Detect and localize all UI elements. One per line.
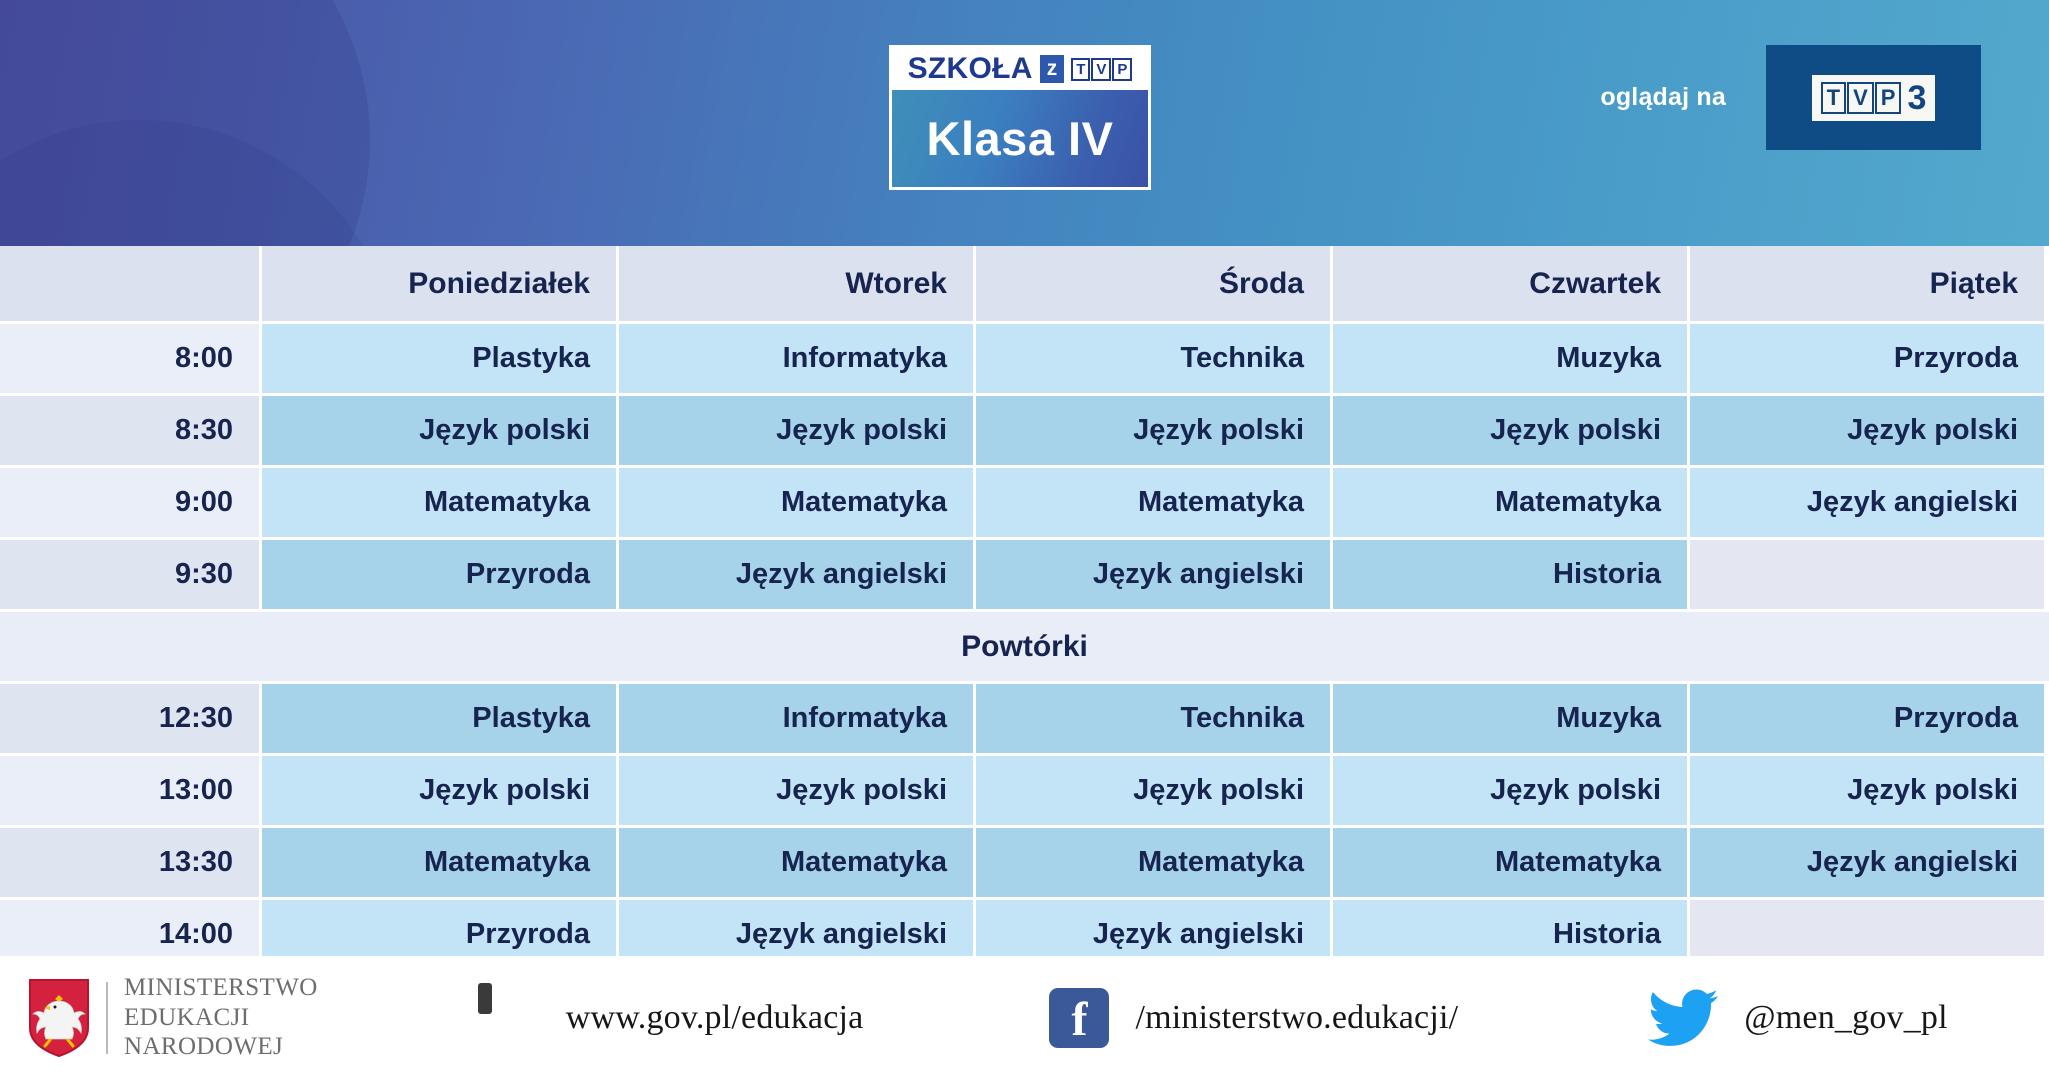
table-row: 13:00 Język polski Język polski Język po… — [0, 756, 2049, 828]
twitter-icon — [1648, 989, 1718, 1047]
table-row: 9:00 Matematyka Matematyka Matematyka Ma… — [0, 468, 2049, 540]
watch-on-block: oglądaj na T V P 3 — [1600, 45, 1981, 150]
lesson-cell: Informatyka — [619, 324, 976, 396]
lesson-cell: Język polski — [1333, 756, 1690, 828]
tvp3-letter-v: V — [1847, 82, 1874, 114]
lesson-cell: Matematyka — [976, 468, 1333, 540]
facebook-link[interactable]: f /ministerstwo.edukacji/ — [1049, 988, 1458, 1048]
tvp3-letters-icon: T V P — [1821, 82, 1902, 114]
lesson-cell: Historia — [1333, 540, 1690, 612]
facebook-icon: f — [1049, 988, 1109, 1048]
lesson-cell: Technika — [976, 684, 1333, 756]
lesson-cell: Język polski — [1690, 396, 2047, 468]
logo-tvp-letter-p: P — [1112, 58, 1132, 81]
lesson-cell: Język polski — [262, 396, 619, 468]
row-time: 8:30 — [0, 396, 262, 468]
twitter-handle: @men_gov_pl — [1744, 999, 1948, 1037]
table-row: 13:30 Matematyka Matematyka Matematyka M… — [0, 828, 2049, 900]
tvp3-channel-number: 3 — [1907, 81, 1926, 115]
polish-coat-of-arms-icon — [28, 978, 90, 1058]
facebook-handle: /ministerstwo.edukacji/ — [1135, 999, 1458, 1037]
lesson-cell-empty — [1690, 540, 2047, 612]
lesson-cell: Język polski — [976, 756, 1333, 828]
watch-on-label: oglądaj na — [1600, 83, 1726, 112]
ministry-line-2: EDUKACJI — [124, 1003, 318, 1033]
lesson-cell: Matematyka — [619, 468, 976, 540]
decorative-blob-icon — [0, 0, 370, 246]
lesson-cell: Język polski — [262, 756, 619, 828]
tvp3-plate: T V P 3 — [1812, 75, 1936, 121]
tvp3-letter-p: P — [1875, 82, 1902, 114]
logo-z-badge: z — [1040, 55, 1065, 83]
row-time: 9:30 — [0, 540, 262, 612]
lesson-cell: Język polski — [1333, 396, 1690, 468]
lesson-cell: Matematyka — [1333, 468, 1690, 540]
lesson-cell: Matematyka — [619, 828, 976, 900]
tvp3-channel-logo: T V P 3 — [1766, 45, 1981, 150]
lesson-cell: Język angielski — [976, 540, 1333, 612]
lesson-cell: Plastyka — [262, 324, 619, 396]
repeats-separator-row: Powtórki — [0, 612, 2049, 684]
logo-tvp-letter-v: V — [1091, 58, 1111, 81]
decorative-blob-secondary-icon — [0, 120, 400, 246]
monitor-icon — [478, 990, 540, 1046]
lesson-cell: Język polski — [619, 756, 976, 828]
lesson-cell: Technika — [976, 324, 1333, 396]
header-banner: SZKOŁA z T V P Klasa IV oglądaj na T V — [0, 0, 2049, 246]
lesson-cell: Język polski — [619, 396, 976, 468]
row-time: 8:00 — [0, 324, 262, 396]
lesson-cell: Matematyka — [976, 828, 1333, 900]
timetable-corner-cell — [0, 246, 262, 324]
ministry-line-3: NARODOWEJ — [124, 1032, 318, 1062]
row-time: 13:30 — [0, 828, 262, 900]
ministry-divider — [106, 982, 108, 1054]
szkola-z-tvp-logo: SZKOŁA z T V P Klasa IV — [889, 45, 1151, 190]
lesson-cell: Język angielski — [1690, 828, 2047, 900]
logo-szkola-word: SZKOŁA — [908, 54, 1033, 84]
lesson-cell: Matematyka — [262, 468, 619, 540]
logo-klasa-row: Klasa IV — [892, 90, 1148, 187]
day-header-piatek: Piątek — [1690, 246, 2047, 324]
ministry-logo: MINISTERSTWO EDUKACJI NARODOWEJ — [28, 973, 318, 1062]
lesson-cell: Informatyka — [619, 684, 976, 756]
table-row: 8:30 Język polski Język polski Język pol… — [0, 396, 2049, 468]
logo-tvp-mark-icon: T V P — [1071, 58, 1132, 81]
ministry-name: MINISTERSTWO EDUKACJI NARODOWEJ — [124, 973, 318, 1062]
day-header-czwartek: Czwartek — [1333, 246, 1690, 324]
website-url: www.gov.pl/edukacja — [566, 999, 864, 1037]
logo-top-row: SZKOŁA z T V P — [892, 48, 1148, 90]
lesson-cell: Język polski — [976, 396, 1333, 468]
day-header-wtorek: Wtorek — [619, 246, 976, 324]
table-row: 8:00 Plastyka Informatyka Technika Muzyk… — [0, 324, 2049, 396]
twitter-link[interactable]: @men_gov_pl — [1648, 989, 1948, 1047]
lesson-cell: Matematyka — [1333, 828, 1690, 900]
lesson-cell: Plastyka — [262, 684, 619, 756]
lesson-cell: Język angielski — [619, 540, 976, 612]
row-time: 13:00 — [0, 756, 262, 828]
lesson-cell: Matematyka — [262, 828, 619, 900]
day-header-sroda: Środa — [976, 246, 1333, 324]
lesson-cell: Przyroda — [1690, 684, 2047, 756]
table-row: 12:30 Plastyka Informatyka Technika Muzy… — [0, 684, 2049, 756]
tvp3-letter-t: T — [1821, 82, 1846, 114]
lesson-cell: Muzyka — [1333, 684, 1690, 756]
lesson-cell: Przyroda — [262, 540, 619, 612]
lesson-cell: Język angielski — [1690, 468, 2047, 540]
website-link[interactable]: www.gov.pl/edukacja — [478, 990, 864, 1046]
row-time: 12:30 — [0, 684, 262, 756]
ministry-line-1: MINISTERSTWO — [124, 973, 318, 1003]
day-header-poniedzialek: Poniedziałek — [262, 246, 619, 324]
row-time: 9:00 — [0, 468, 262, 540]
timetable-header-row: Poniedziałek Wtorek Środa Czwartek Piąte… — [0, 246, 2049, 324]
lesson-cell: Przyroda — [1690, 324, 2047, 396]
lesson-cell: Język polski — [1690, 756, 2047, 828]
logo-klasa-label: Klasa IV — [927, 115, 1114, 162]
timetable: Poniedziałek Wtorek Środa Czwartek Piąte… — [0, 246, 2049, 956]
lesson-cell: Muzyka — [1333, 324, 1690, 396]
logo-tvp-letter-t: T — [1071, 58, 1090, 81]
table-row: 9:30 Przyroda Język angielski Język angi… — [0, 540, 2049, 612]
schedule-poster: SZKOŁA z T V P Klasa IV oglądaj na T V — [0, 0, 2049, 1079]
footer: MINISTERSTWO EDUKACJI NARODOWEJ www.gov.… — [0, 956, 2049, 1079]
